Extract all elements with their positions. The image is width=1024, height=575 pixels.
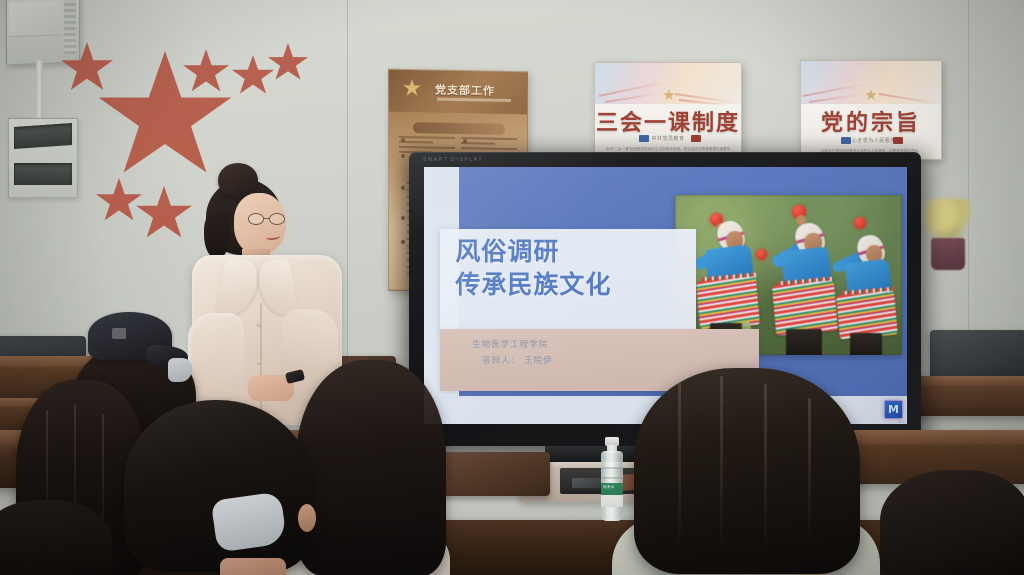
poster-logos: 中共党员教育 xyxy=(595,135,741,142)
poster-logos: 全心全意为人民服务 xyxy=(801,137,941,144)
audience-ear xyxy=(298,504,316,532)
potted-plant xyxy=(925,198,971,272)
slide-subtitle-line-1: 生物医学工程学院 xyxy=(472,337,552,353)
poster-chip xyxy=(691,135,701,142)
poster-title: 党支部工作 xyxy=(435,82,495,99)
slide-title: 风俗调研 传承民族文化 xyxy=(455,235,611,301)
wall-conduit-pipe xyxy=(36,60,43,124)
poster-section-band xyxy=(413,122,505,135)
poster-sky-graphic xyxy=(801,61,941,104)
air-vent-slot xyxy=(14,163,72,185)
poster-chip xyxy=(639,135,649,142)
plant-leaves xyxy=(925,198,971,242)
audience-member-center-woman xyxy=(296,360,446,575)
audience-hair xyxy=(296,360,446,575)
slide-subtitle-line-2: 答辩人： 王院伊 xyxy=(472,353,552,369)
chair-back xyxy=(930,330,1024,382)
watermark-caption: 水印 xyxy=(898,420,905,424)
air-vent-slot xyxy=(14,123,72,149)
audience-hair xyxy=(880,470,1024,575)
chair-back xyxy=(430,452,550,496)
poster-chip xyxy=(841,137,851,144)
poster-chip xyxy=(893,137,903,144)
electrical-box-face xyxy=(9,1,61,37)
coat-button xyxy=(256,359,262,365)
watermark-letter: M xyxy=(888,404,899,415)
plant-pot xyxy=(931,238,965,270)
poster-title: 党的宗旨 xyxy=(801,105,941,137)
presenter-glasses xyxy=(248,213,288,225)
face-mask xyxy=(211,491,288,552)
dancer-figure xyxy=(820,195,897,354)
face-mask xyxy=(168,358,192,382)
electrical-box-vent xyxy=(64,0,76,54)
audience-member-masked xyxy=(214,496,296,575)
presenter-hair-side xyxy=(204,211,230,259)
slide-title-line-2: 传承民族文化 xyxy=(455,268,611,301)
slide-title-line-1: 风俗调研 xyxy=(455,235,611,268)
poster-title: 三会一课制度 xyxy=(595,105,741,137)
audience-hair xyxy=(0,500,112,575)
coat-button xyxy=(256,321,262,327)
slide-subtitle: 生物医学工程学院 答辩人： 王院伊 xyxy=(472,337,552,369)
poster-body-columns xyxy=(397,136,521,138)
wall-electrical-box xyxy=(6,0,80,65)
audience-hair xyxy=(634,368,860,574)
cap-logo-icon xyxy=(112,328,126,339)
dancer-figure xyxy=(752,195,829,354)
classroom-scene: 党支部工作 xyxy=(0,0,1024,575)
poster-three-meetings: 三会一课制度 中共党员教育 坚持"三会一课"制度是党的组织生活的基本制度，是加强… xyxy=(594,62,742,158)
audience-member-bottom-left xyxy=(0,500,112,575)
slide-watermark: M xyxy=(884,400,903,419)
poster-party-purpose: 党的宗旨 全心全意为人民服务 中国共产党的宗旨是全心全意为人民服务，这是党的根本… xyxy=(800,60,942,160)
audience-member-right xyxy=(612,368,880,575)
audience-member-far-right xyxy=(880,470,1024,575)
display-top-brand: SMART DISPLAY xyxy=(423,157,483,163)
air-vent-plate xyxy=(8,118,78,198)
presenter-hair-bun xyxy=(218,163,258,197)
